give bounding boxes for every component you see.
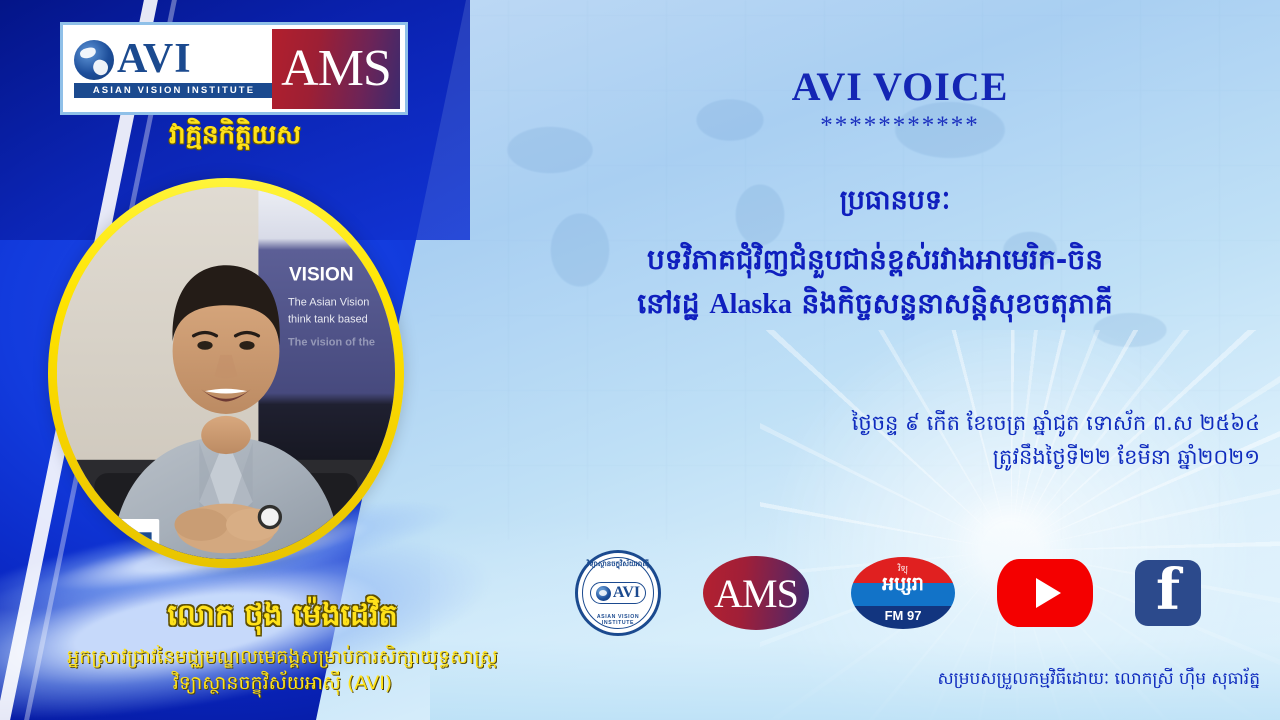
avi-logo: AVI ASIAN VISION INSTITUTE: [68, 40, 268, 98]
svg-text:think tank based: think tank based: [288, 313, 368, 325]
facebook-logo[interactable]: f: [1135, 560, 1201, 626]
play-icon: [1036, 578, 1061, 608]
avi-ams-header-logo: AVI ASIAN VISION INSTITUTE AMS: [60, 22, 408, 115]
globe-icon: [596, 586, 611, 601]
date-khmer-calendar: ថ្ងៃចន្ទ ៩ កើត ខែចេត្រ ឆ្នាំជូត ទោស័ក ព.…: [560, 406, 1260, 440]
avi-seal-khmer-text: វិទ្យាស្ថានចក្ខុវិស័យអាស៊ី: [583, 560, 653, 570]
speaker-kicker: វាគ្មិនកិត្តិយស: [0, 118, 470, 156]
poster-canvas: AVI ASIAN VISION INSTITUTE AMS វាគ្មិនកិ…: [0, 0, 1280, 720]
apsara-name-label: អប្សរា: [882, 575, 924, 594]
date-gregorian: ត្រូវនឹងថ្ងៃទី២២ ខែមីនា ឆ្នាំ២០២១: [560, 440, 1260, 474]
avi-seal-ring: វិទ្យាស្ថានចក្ខុវិស័យអាស៊ី AVI ASIAN VIS…: [582, 557, 654, 629]
apsara-frequency-label: FM 97: [885, 608, 922, 623]
ams-logo-label: AMS: [714, 570, 798, 617]
program-title: AVI VOICE: [520, 63, 1280, 110]
globe-icon: [74, 40, 114, 80]
avi-seal-english-text: ASIAN VISION INSTITUTE: [583, 614, 653, 626]
avi-wordmark: AVI: [117, 40, 192, 80]
speaker-role-line-2: វិទ្យាស្ថានចក្ខុវិស័យអាស៊ី (AVI): [0, 671, 565, 697]
speaker-role-line-1: អ្នកស្រាវជ្រាវនៃមជ្ឈមណ្ឌលមេគង្គសម្រាប់កា…: [0, 645, 565, 671]
topic-line-2-pre: នៅរដ្ឋ: [637, 287, 709, 320]
svg-text:The vision of the: The vision of the: [288, 336, 375, 348]
broadcast-date: ថ្ងៃចន្ទ ៩ កើត ខែចេត្រ ឆ្នាំជូត ទោស័ក ព.…: [560, 406, 1260, 474]
avi-seal-core: AVI: [590, 582, 646, 604]
partner-logo-strip: វិទ្យាស្ថានចក្ខុវិស័យអាស៊ី AVI ASIAN VIS…: [575, 543, 1275, 643]
svg-text:The Asian Vision: The Asian Vision: [288, 296, 369, 308]
speaker-role: អ្នកស្រាវជ្រាវនៃមជ្ឈមណ្ឌលមេគង្គសម្រាប់កា…: [0, 645, 565, 696]
program-credit: សម្របសម្រួលកម្មវិធីដោយៈ លោកស្រី ហ៊ឹម សុធ…: [700, 668, 1260, 693]
facebook-f-icon: f: [1156, 568, 1180, 614]
topic-line-1: បទវិភាគជុំវិញជំនួបជាន់ខ្ពស់រវាងអាមេរិក-ច…: [470, 238, 1280, 282]
speaker-portrait-illustration: VISION The Asian Vision think tank based…: [57, 187, 395, 559]
speaker-photo-frame: VISION The Asian Vision think tank based…: [48, 178, 404, 568]
avi-tagline: ASIAN VISION INSTITUTE: [74, 83, 272, 98]
svg-text:VISION: VISION: [289, 264, 354, 285]
topic-line-2-post: និងកិច្ចសន្ទនាសន្តិសុខចតុភាគី: [792, 287, 1113, 320]
avi-seal-logo[interactable]: វិទ្យាស្ថានចក្ខុវិស័យអាស៊ី AVI ASIAN VIS…: [575, 550, 661, 636]
avi-seal-wordmark: AVI: [613, 585, 640, 601]
ams-wordmark: AMS: [281, 43, 391, 95]
topic-line-2: នៅរដ្ឋ Alaska និងកិច្ចសន្ទនាសន្តិសុខចតុភ…: [470, 282, 1280, 327]
speaker-name: លោក ថុង ម៉េងដេវិត: [0, 600, 565, 632]
topic-line-2-latin: Alaska: [709, 289, 791, 320]
topic-body: បទវិភាគជុំវិញជំនួបជាន់ខ្ពស់រវាងអាមេរិក-ច…: [470, 238, 1280, 327]
topic-label: ប្រធានបទៈ: [510, 184, 1280, 223]
speaker-photo: VISION The Asian Vision think tank based…: [57, 187, 395, 559]
title-star-divider: ***********: [520, 112, 1280, 140]
apsara-fm-logo[interactable]: វិទ្យុ អប្សរា FM 97: [851, 557, 955, 629]
youtube-logo[interactable]: [997, 559, 1093, 627]
ams-logo-header: AMS: [272, 29, 400, 109]
ams-logo[interactable]: AMS: [703, 556, 809, 630]
